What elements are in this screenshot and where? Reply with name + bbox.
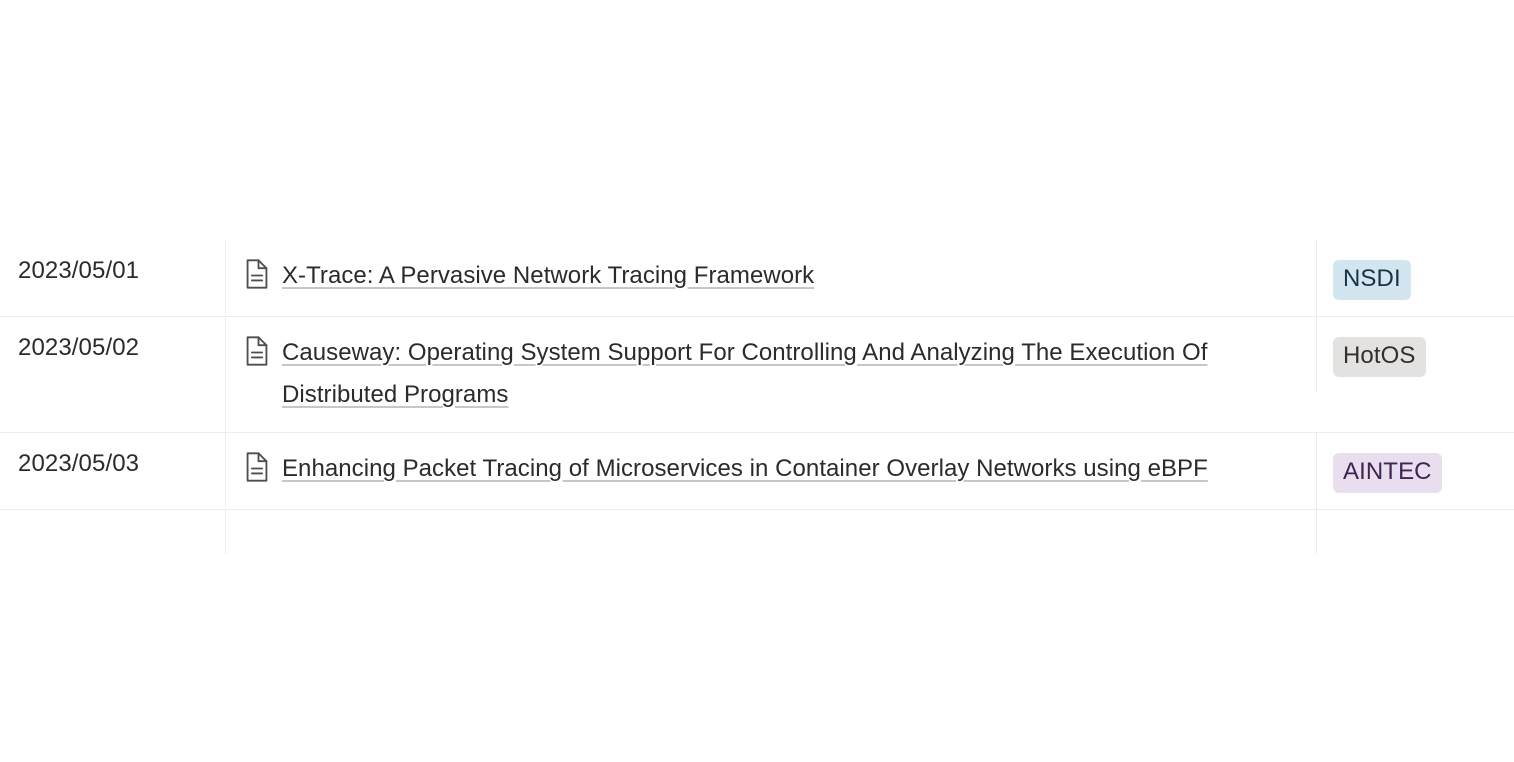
table-row[interactable]: 2023/05/01 X-Trace: A Pervasive Network … xyxy=(0,240,1514,317)
page-title-link[interactable]: Enhancing Packet Tracing of Microservice… xyxy=(282,448,1208,490)
database-table: 2023/05/01 X-Trace: A Pervasive Network … xyxy=(0,240,1514,554)
status-badge: NSDI xyxy=(1333,260,1411,300)
document-icon xyxy=(244,452,270,482)
date-value: 2023/05/03 xyxy=(18,450,139,477)
cell-date[interactable]: 2023/05/01 xyxy=(0,240,225,302)
cell-date[interactable]: 2023/05/02 xyxy=(0,317,225,379)
column-divider-title-tag xyxy=(1316,510,1317,554)
status-badge: HotOS xyxy=(1333,337,1426,377)
table-row[interactable]: 2023/05/03 Enhancing Packet Tracing of M… xyxy=(0,433,1514,510)
document-icon xyxy=(244,336,270,366)
cell-title[interactable]: Enhancing Packet Tracing of Microservice… xyxy=(225,433,1316,506)
cell-tag[interactable]: NSDI xyxy=(1316,240,1514,316)
status-badge: AINTEC xyxy=(1333,453,1442,493)
cell-title[interactable]: X-Trace: A Pervasive Network Tracing Fra… xyxy=(225,240,1316,313)
cell-tag[interactable]: AINTEC xyxy=(1316,433,1514,509)
page-root: 2023/05/01 X-Trace: A Pervasive Network … xyxy=(0,0,1514,762)
cell-date[interactable]: 2023/05/03 xyxy=(0,433,225,495)
date-value: 2023/05/02 xyxy=(18,334,139,361)
cell-tag[interactable]: HotOS xyxy=(1316,317,1514,393)
date-value: 2023/05/01 xyxy=(18,257,139,284)
page-title-link[interactable]: Causeway: Operating System Support For C… xyxy=(282,332,1292,416)
column-divider-date-title xyxy=(225,510,226,554)
page-title-link[interactable]: X-Trace: A Pervasive Network Tracing Fra… xyxy=(282,255,814,297)
table-row[interactable]: 2023/05/02 Causeway: Operating System Su… xyxy=(0,317,1514,433)
cell-title[interactable]: Causeway: Operating System Support For C… xyxy=(225,317,1316,432)
document-icon xyxy=(244,259,270,289)
table-column-rules xyxy=(0,510,1514,554)
